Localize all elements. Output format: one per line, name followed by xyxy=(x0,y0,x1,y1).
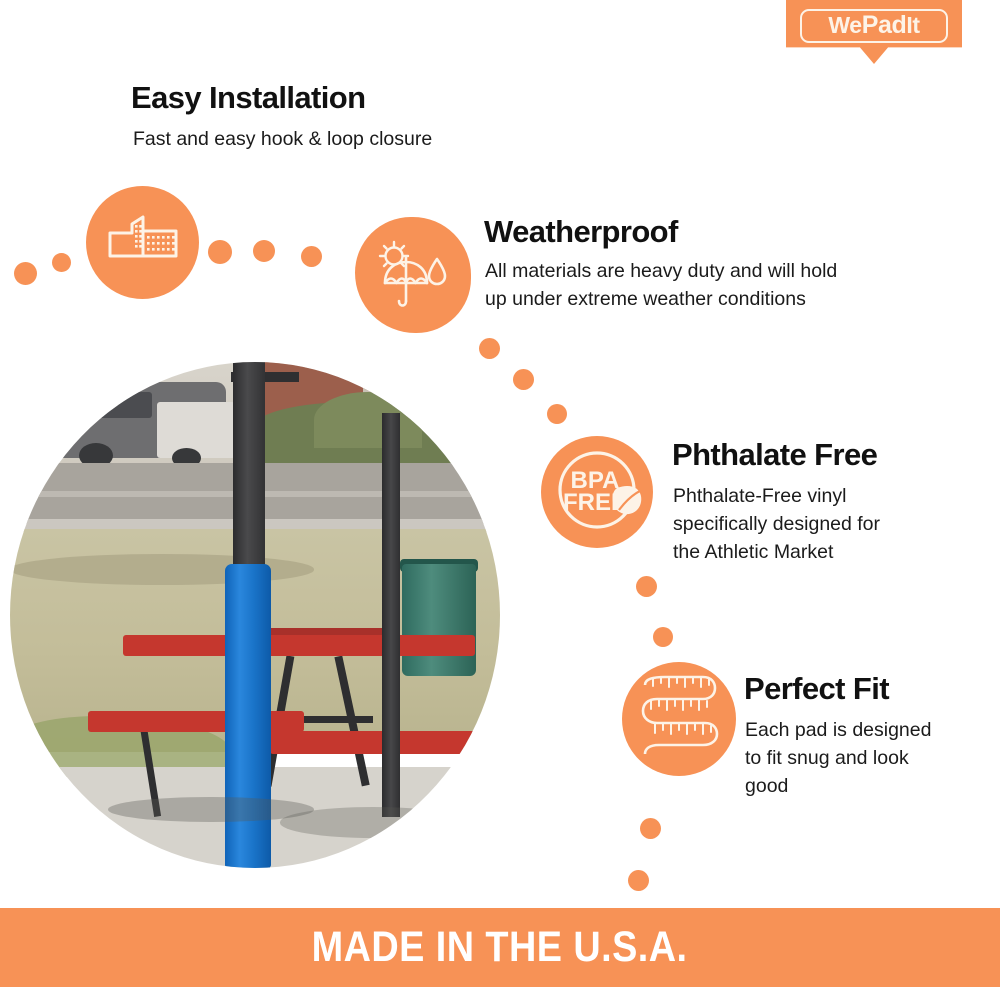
made-in-usa-text: MADE IN THE U.S.A. xyxy=(312,923,688,972)
trail-dot xyxy=(301,246,322,267)
trail-dot xyxy=(253,240,275,262)
photo-picnic-table-top xyxy=(123,635,476,656)
logo-text-it: It xyxy=(906,12,919,38)
logo-text: WePadIt xyxy=(786,13,962,37)
feature-title-perfect-fit: Perfect Fit xyxy=(744,671,889,707)
photo-bench-seat xyxy=(88,711,304,732)
bpa-free-leaf-icon: BPA FREE xyxy=(545,440,649,544)
feature-description-perfect-fit-line-1: Each pad is designed xyxy=(745,716,931,744)
brand-logo: WePadIt xyxy=(786,0,962,64)
trail-dot xyxy=(479,338,500,359)
trail-dot xyxy=(208,240,232,264)
photo-suv-window xyxy=(74,392,152,417)
feature-icon-circle-easy-installation xyxy=(86,186,199,299)
infographic-canvas: WePadIt Easy Installation Fast and easy … xyxy=(0,0,1000,987)
feature-description-phthalate-free-line-1: Phthalate-Free vinyl xyxy=(673,482,846,510)
photo-blue-pole-pad xyxy=(225,564,272,868)
product-photo xyxy=(10,362,500,868)
photo-bench-seat xyxy=(270,731,476,754)
feature-title-phthalate-free: Phthalate Free xyxy=(672,437,877,473)
logo-text-pad: Pad xyxy=(862,11,907,39)
feature-description-phthalate-free-line-3: the Athletic Market xyxy=(673,538,833,566)
feature-description-weatherproof-line-1: All materials are heavy duty and will ho… xyxy=(485,257,837,285)
feature-description-easy-installation: Fast and easy hook & loop closure xyxy=(133,125,432,153)
photo-hedge-secondary xyxy=(314,392,422,448)
made-in-usa-banner: MADE IN THE U.S.A. xyxy=(0,908,1000,987)
trail-dot xyxy=(513,369,534,390)
feature-description-perfect-fit-line-3: good xyxy=(745,772,788,800)
logo-text-we: We xyxy=(828,12,861,38)
feature-description-perfect-fit-line-2: to fit snug and look xyxy=(745,744,909,772)
feature-title-easy-installation: Easy Installation xyxy=(131,80,365,116)
trail-dot xyxy=(653,627,673,647)
feature-description-weatherproof-line-2: up under extreme weather conditions xyxy=(485,285,806,313)
tape-measure-icon xyxy=(635,673,723,765)
raindrop-icon xyxy=(429,259,445,284)
trail-dot xyxy=(52,253,71,272)
trail-dot xyxy=(628,870,649,891)
photo-trash-barrel xyxy=(402,564,476,675)
umbrella-sun-raindrop-icon xyxy=(373,239,453,311)
photo-shadow xyxy=(280,807,466,837)
feature-description-phthalate-free-line-2: specifically designed for xyxy=(673,510,880,538)
trail-dot xyxy=(640,818,661,839)
feature-icon-circle-phthalate-free: BPA FREE xyxy=(541,436,653,548)
feature-title-weatherproof: Weatherproof xyxy=(484,214,678,250)
trail-dot xyxy=(547,404,567,424)
trail-dot xyxy=(636,576,657,597)
photo-right-post xyxy=(382,413,400,818)
trail-dot xyxy=(14,262,37,285)
feature-icon-circle-perfect-fit xyxy=(622,662,736,776)
product-photo-scene xyxy=(10,362,500,868)
building-icon xyxy=(106,211,180,275)
feature-icon-circle-weatherproof xyxy=(355,217,471,333)
